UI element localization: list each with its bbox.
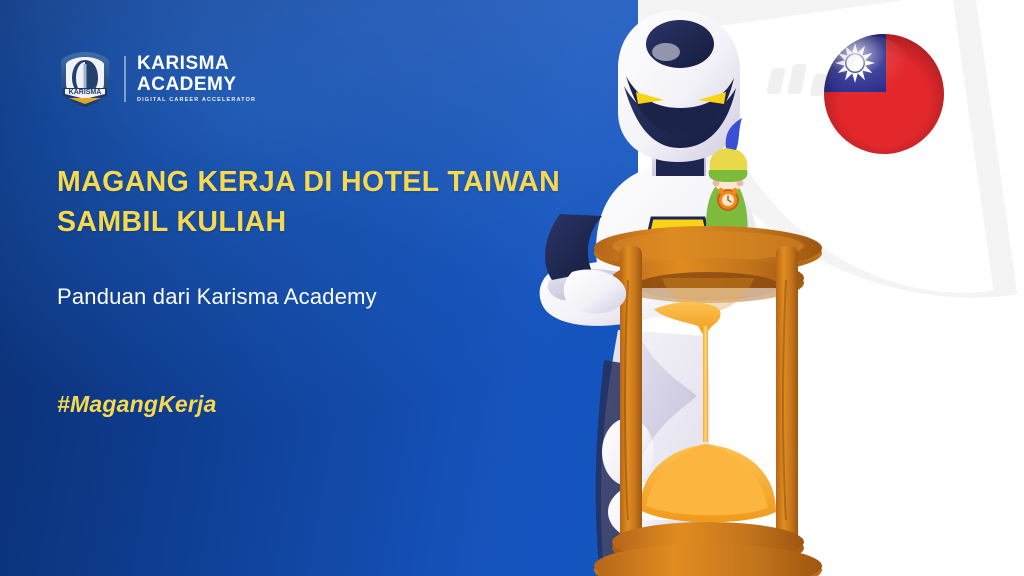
logo-line2: ACADEMY	[137, 75, 256, 94]
logo-divider	[124, 56, 126, 102]
taiwan-flag-circle-icon	[820, 30, 948, 158]
logo-line1: KARISMA	[137, 54, 256, 73]
page-title: MAGANG KERJA DI HOTEL TAIWAN SAMBIL KULI…	[57, 162, 577, 243]
karisma-shield-crest-icon: KARISMA	[57, 50, 113, 108]
hashtag-label: #MagangKerja	[57, 391, 217, 418]
slide-canvas: KARISMA KARISMA ACADEMY DIGITAL CAREER A…	[0, 0, 1024, 576]
svg-text:KARISMA: KARISMA	[69, 89, 102, 96]
subtitle: Panduan dari Karisma Academy	[57, 283, 377, 312]
logo-wordmark: KARISMA ACADEMY DIGITAL CAREER ACCELERAT…	[137, 54, 256, 104]
brand-logo[interactable]: KARISMA KARISMA ACADEMY DIGITAL CAREER A…	[57, 50, 256, 108]
wooden-hourglass-icon	[594, 226, 822, 576]
headline-line1: MAGANG KERJA DI HOTEL TAIWAN	[57, 162, 577, 202]
logo-tagline: DIGITAL CAREER ACCELERATOR	[137, 98, 256, 104]
headline-line2: SAMBIL KULIAH	[57, 202, 577, 242]
